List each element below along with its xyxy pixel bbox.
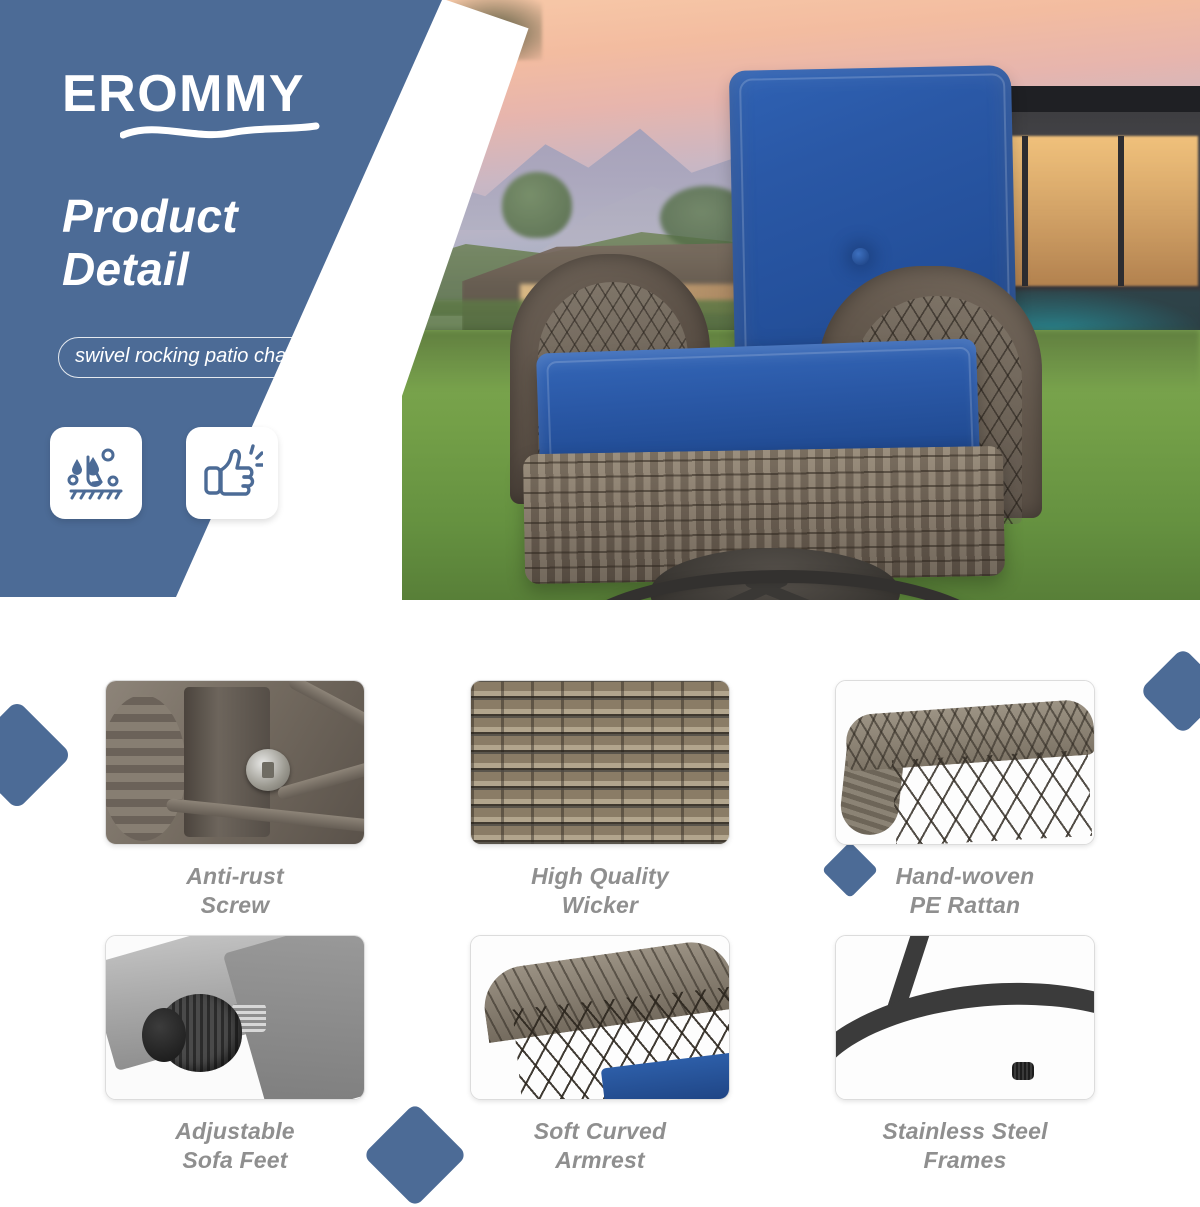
feature-high-quality-wicker[interactable]: High Quality Wicker <box>470 680 730 921</box>
feature-thumbnail[interactable] <box>835 680 1095 845</box>
adjustable-foot-image <box>106 936 364 1099</box>
feature-label: Hand-woven PE Rattan <box>896 862 1035 921</box>
badge-thumbs-up <box>186 427 278 519</box>
feature-anti-rust-screw[interactable]: Anti-rust Screw <box>105 680 365 921</box>
feature-label-line1: Anti-rust <box>186 862 284 891</box>
feature-label: Anti-rust Screw <box>186 862 284 921</box>
feature-label-line1: Soft Curved <box>534 1117 667 1146</box>
feature-thumbnail[interactable] <box>105 680 365 845</box>
feature-label: Adjustable Sofa Feet <box>175 1117 295 1176</box>
feature-thumbnail[interactable] <box>105 935 365 1100</box>
feature-label: Soft Curved Armrest <box>534 1117 667 1176</box>
frame-rod <box>276 758 365 801</box>
feature-label-line2: Armrest <box>534 1146 667 1175</box>
coil-detail <box>105 695 186 841</box>
cushion-button-tuft <box>852 248 869 265</box>
feature-soft-curved-armrest[interactable]: Soft Curved Armrest <box>470 935 730 1176</box>
feature-thumbnail[interactable] <box>835 935 1095 1100</box>
subtitle-pill: swivel rocking patio chairs <box>58 337 324 378</box>
hero-section: EROMMY Product Detail swivel rocking pat… <box>0 0 1200 600</box>
rattan-lattice <box>892 750 1092 845</box>
feature-label-line1: High Quality <box>531 862 669 891</box>
wicker-weave-image <box>471 681 729 844</box>
features-section: Anti-rust Screw High Quality Wicker <box>0 660 1200 1200</box>
badge-water-repellent <box>50 427 142 519</box>
feature-label-line1: Stainless Steel <box>882 1117 1047 1146</box>
wave-underline-icon <box>120 122 320 147</box>
page-title-line1: Product <box>62 190 238 243</box>
rattan-braid-image <box>836 681 1094 844</box>
feature-label-line2: Sofa Feet <box>175 1146 295 1175</box>
feature-label-line1: Hand-woven <box>896 862 1035 891</box>
feature-label: Stainless Steel Frames <box>882 1117 1047 1176</box>
screw-closeup-image <box>106 681 364 844</box>
feature-label-line1: Adjustable <box>175 1117 295 1146</box>
features-row-1: Anti-rust Screw High Quality Wicker <box>0 680 1200 921</box>
feature-hand-woven-pe-rattan[interactable]: Hand-woven PE Rattan <box>835 680 1095 921</box>
feature-label-line2: Frames <box>882 1146 1047 1175</box>
frame-foot <box>1012 1062 1034 1080</box>
feature-thumbnail[interactable] <box>470 935 730 1100</box>
features-row-2: Adjustable Sofa Feet Soft Curved Armrest <box>0 935 1200 1176</box>
thumbs-up-icon <box>201 444 263 502</box>
feature-adjustable-sofa-feet[interactable]: Adjustable Sofa Feet <box>105 935 365 1176</box>
page-title-line2: Detail <box>62 243 238 296</box>
bolt-head <box>246 749 290 791</box>
frame-ring <box>835 967 1095 1100</box>
feature-label-line2: PE Rattan <box>896 891 1035 920</box>
brand-logo-text: EROMMY <box>62 68 320 120</box>
feature-stainless-steel-frames[interactable]: Stainless Steel Frames <box>835 935 1095 1176</box>
water-repellent-icon <box>66 444 126 502</box>
armrest-closeup-image <box>471 936 729 1099</box>
frame-rod <box>287 680 365 733</box>
product-chair <box>500 58 1060 600</box>
feature-label: High Quality Wicker <box>531 862 669 921</box>
product-detail-page: EROMMY Product Detail swivel rocking pat… <box>0 0 1200 1200</box>
window-mullion <box>1118 136 1124 286</box>
steel-frame-image <box>836 936 1094 1099</box>
feature-thumbnail[interactable] <box>470 680 730 845</box>
page-title: Product Detail <box>62 190 238 297</box>
feature-badges <box>50 427 278 519</box>
feature-label-line2: Wicker <box>531 891 669 920</box>
brand-logo: EROMMY <box>62 68 320 147</box>
adjuster-knob <box>158 994 242 1072</box>
feature-label-line2: Screw <box>186 891 284 920</box>
